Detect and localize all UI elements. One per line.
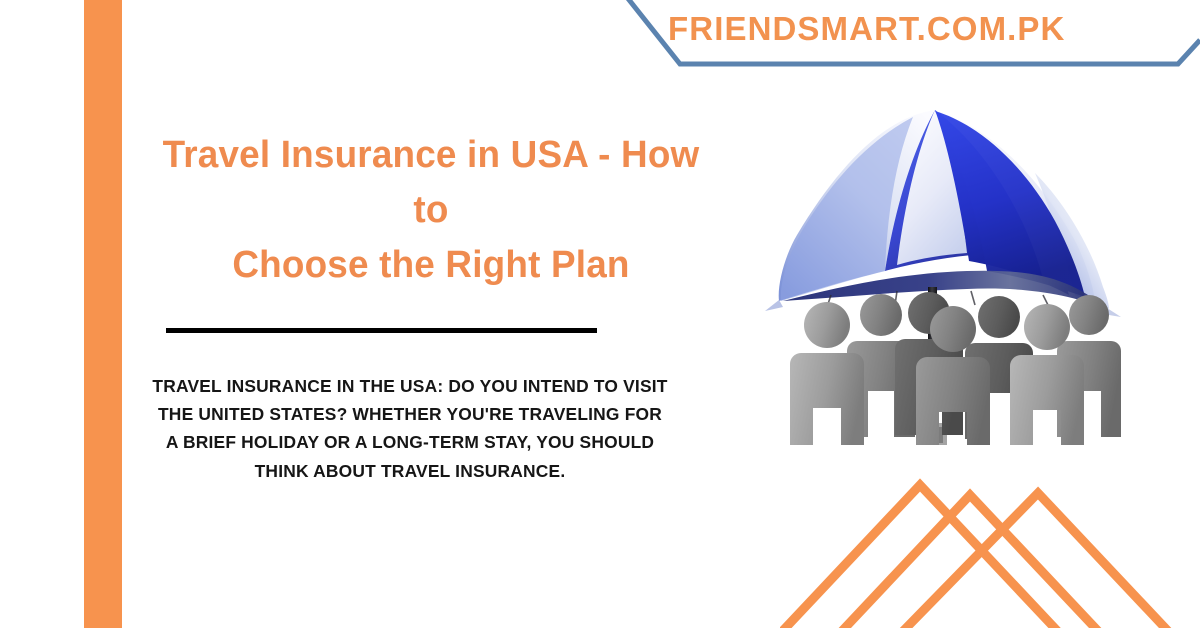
body-paragraph: TRAVEL INSURANCE IN THE USA: DO YOU INTE… (150, 372, 670, 485)
people-group-front (790, 302, 1084, 445)
banner-canvas: FRIENDSMART.COM.PK Travel Insurance in U… (0, 0, 1200, 628)
page-title-line-1: Travel Insurance in USA - How to (158, 128, 703, 238)
site-url-text: FRIENDSMART.COM.PK (668, 10, 1108, 48)
umbrella-canopy (765, 110, 1121, 317)
left-accent-bar (84, 0, 122, 628)
page-title-line-2: Choose the Right Plan (158, 238, 703, 293)
page-title: Travel Insurance in USA - How to Choose … (158, 128, 703, 293)
chevron-pattern (780, 455, 1200, 628)
title-divider (166, 328, 597, 333)
umbrella-illustration (735, 95, 1135, 445)
